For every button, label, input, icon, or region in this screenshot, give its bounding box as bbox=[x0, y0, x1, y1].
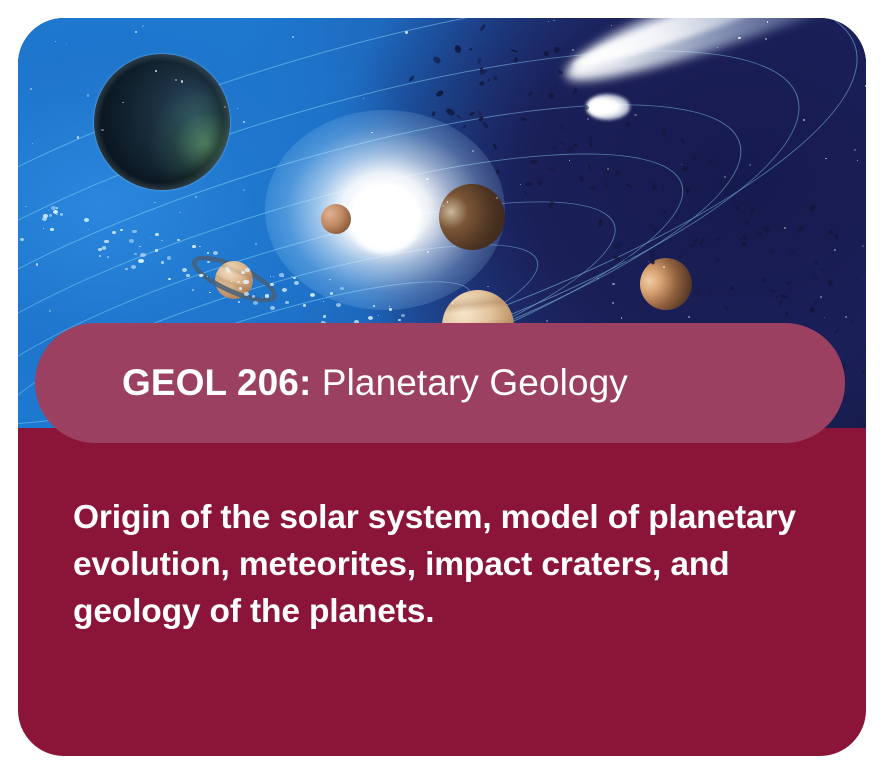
ice-particle bbox=[155, 249, 158, 252]
star bbox=[36, 263, 39, 266]
star bbox=[834, 249, 836, 251]
ice-particle bbox=[138, 259, 143, 263]
asteroid bbox=[662, 209, 666, 214]
star bbox=[142, 25, 144, 27]
star bbox=[43, 228, 44, 229]
mercury-planet bbox=[321, 204, 351, 234]
star bbox=[612, 283, 614, 285]
page-title: GEOL 206: Planetary Geology bbox=[35, 362, 628, 404]
mars-planet bbox=[439, 184, 505, 250]
earth-limb-highlight bbox=[94, 54, 230, 190]
star bbox=[262, 297, 263, 298]
star bbox=[820, 296, 822, 298]
ice-particle bbox=[310, 293, 315, 297]
star bbox=[405, 31, 407, 33]
star bbox=[447, 201, 448, 202]
star bbox=[155, 70, 157, 72]
star bbox=[738, 37, 740, 39]
asteroid bbox=[834, 233, 839, 240]
star bbox=[88, 229, 89, 230]
ice-particle bbox=[243, 280, 248, 284]
star bbox=[586, 62, 588, 64]
star bbox=[150, 237, 151, 238]
ice-particle bbox=[131, 265, 136, 269]
outer-planet bbox=[640, 258, 692, 310]
star bbox=[363, 193, 364, 194]
star bbox=[853, 21, 855, 23]
ice-particle bbox=[294, 281, 299, 285]
star bbox=[546, 320, 548, 322]
ice-particle bbox=[49, 214, 53, 217]
ice-particle bbox=[120, 229, 123, 231]
asteroid bbox=[650, 250, 656, 257]
course-code: GEOL 206: bbox=[122, 362, 311, 403]
star bbox=[496, 197, 498, 199]
asteroid bbox=[538, 179, 543, 186]
ice-particle bbox=[270, 283, 274, 286]
ice-particle bbox=[161, 261, 165, 264]
asteroid bbox=[715, 237, 720, 240]
star bbox=[101, 129, 104, 132]
star bbox=[452, 302, 453, 303]
star bbox=[472, 150, 474, 152]
sun bbox=[348, 184, 422, 254]
star bbox=[803, 119, 805, 121]
ice-particle bbox=[227, 269, 232, 273]
star bbox=[22, 25, 23, 26]
ice-particle bbox=[323, 315, 326, 317]
ice-particle bbox=[398, 319, 401, 321]
star bbox=[765, 38, 767, 40]
star bbox=[569, 160, 570, 161]
asteroid bbox=[599, 219, 603, 227]
star bbox=[607, 168, 609, 170]
star bbox=[749, 164, 751, 166]
ice-particle bbox=[373, 305, 375, 307]
star bbox=[553, 20, 555, 22]
asteroid bbox=[651, 182, 656, 190]
star bbox=[394, 233, 396, 235]
star bbox=[688, 316, 690, 318]
star bbox=[634, 114, 636, 116]
star bbox=[857, 160, 858, 161]
star bbox=[520, 184, 521, 185]
ice-particle bbox=[239, 287, 243, 290]
asteroid bbox=[605, 183, 608, 187]
comet-head bbox=[586, 94, 630, 120]
course-description: Origin of the solar system, model of pla… bbox=[73, 494, 833, 635]
star bbox=[292, 36, 294, 38]
star bbox=[49, 310, 51, 312]
star bbox=[87, 94, 90, 97]
ice-particle bbox=[107, 256, 109, 258]
star bbox=[572, 49, 574, 51]
star bbox=[862, 245, 864, 247]
star bbox=[442, 205, 444, 207]
ice-particle bbox=[99, 255, 101, 257]
asteroid bbox=[529, 160, 537, 164]
star bbox=[177, 239, 179, 241]
star bbox=[426, 178, 429, 181]
ice-particle bbox=[167, 256, 171, 260]
ice-particle bbox=[244, 292, 249, 296]
course-name: Planetary Geology bbox=[311, 362, 627, 403]
star bbox=[30, 88, 32, 90]
star bbox=[243, 121, 245, 123]
ice-particle bbox=[43, 214, 48, 218]
course-card[interactable]: GEOL 206: Planetary Geology Origin of th… bbox=[18, 18, 866, 756]
ice-particle bbox=[368, 316, 373, 320]
ice-particle bbox=[140, 253, 145, 257]
ice-particle bbox=[192, 289, 195, 291]
ice-particle bbox=[168, 278, 171, 280]
star bbox=[865, 85, 866, 87]
star bbox=[854, 149, 856, 151]
star bbox=[717, 47, 718, 48]
asteroid bbox=[525, 181, 531, 185]
star bbox=[77, 136, 80, 139]
star bbox=[135, 31, 137, 33]
star bbox=[360, 249, 362, 251]
ice-particle bbox=[265, 294, 270, 298]
ice-particle bbox=[60, 213, 63, 216]
course-title-banner[interactable]: GEOL 206: Planetary Geology bbox=[35, 323, 845, 443]
ice-particle bbox=[245, 268, 250, 272]
star bbox=[122, 102, 124, 104]
star bbox=[427, 251, 429, 253]
